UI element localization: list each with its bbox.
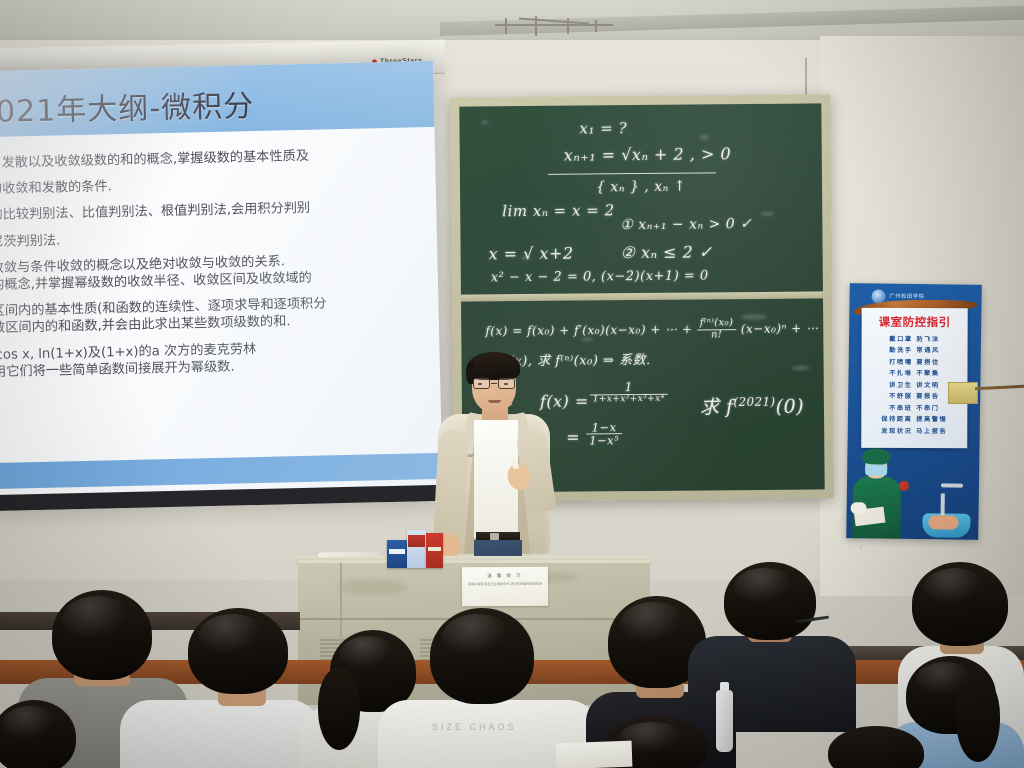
board-line-cond2: ② xₙ ≤ 2 ✓	[621, 242, 713, 262]
board-example-equals: =	[566, 428, 580, 447]
slide-line: 数、发散以及收敛级数的和的概念,掌握级数的基本性质及	[0, 147, 443, 171]
slide-bottom-band	[0, 453, 442, 489]
guideline-item: 勤洗手 常通风	[862, 345, 968, 357]
school-name: 广州松田学院	[890, 292, 925, 300]
board-line-cond1: ① xₙ₊₁ − xₙ > 0 ✓	[620, 216, 752, 233]
board-example-fraction-2: 1−x 1−x⁵	[586, 421, 622, 447]
board-example-fraction-1: 1 1+x+x²+x³+x⁴	[590, 381, 668, 406]
handwashing-illustration-icon	[918, 483, 975, 538]
guideline-item: 戴口罩 防飞沫	[862, 334, 968, 346]
wall-bracket-icon	[948, 382, 978, 404]
teacher-left-arm	[433, 429, 469, 540]
slide-line: 数的收敛和发散的条件.	[0, 173, 443, 197]
slide-line: 布尼茨判别法.	[0, 225, 443, 249]
belt-buckle-icon	[490, 533, 499, 540]
chalk-box-red	[426, 533, 443, 568]
slide-line: 性的比较判别法、比值判别法、根值判别法,会用积分判别	[0, 199, 443, 223]
chalk-box-white	[407, 530, 426, 568]
hoodie-print-text: SIZE CHAOS	[432, 722, 517, 732]
blackboard-middle-rail	[461, 291, 823, 301]
board-line-fixedpoint: x = √ x+2	[489, 244, 574, 264]
projection-screen: 2021年大纲-微积分 数、发散以及收敛级数的和的概念,掌握级数的基本性质及 数…	[0, 61, 443, 511]
chalk-box-blue	[387, 540, 407, 568]
board-line-limit: lim xₙ = x = 2	[502, 201, 614, 220]
board-line-recurrence: xₙ₊₁ = √xₙ + 2 , > 0	[564, 144, 732, 164]
wall-marking: •	[860, 545, 862, 551]
board-example-question: 求 f(2021)(0)	[700, 392, 804, 420]
board-line-quadratic: x² − x − 2 = 0, (x−2)(x+1) = 0	[491, 268, 709, 285]
water-bottle-icon	[716, 690, 733, 752]
notebook-page	[556, 741, 633, 768]
ceiling-light-bracket-icon	[495, 16, 613, 36]
covid-guidelines-poster: 广州松田学院 课室防控指引 戴口罩 防飞沫 勤洗手 常通风 打喷嚏 要捂住 不扎…	[846, 283, 982, 540]
desk-notice-sign: 温 馨 提 示 请保持课室清洁卫生谢谢合作 请勿在课室内吸烟饮食	[462, 567, 548, 607]
poster-badge-icon	[899, 481, 909, 491]
board-fraction-bar	[548, 172, 716, 175]
notice-body: 请保持课室清洁卫生谢谢合作 请勿在课室内吸烟饮食	[462, 582, 548, 588]
board-taylor-expansion: f(x) = f(x₀) + f′(x₀)(x−x₀) + ⋯ + f⁽ⁿ⁾(x…	[485, 317, 819, 342]
board-line-x1: x₁ = ?	[579, 119, 627, 137]
notice-title: 温 馨 提 示	[462, 573, 548, 580]
teacher-mouth	[488, 400, 501, 403]
guideline-item: 不扎堆 不聚集	[861, 368, 967, 380]
poster-card: 课室防控指引 戴口罩 防飞沫 勤洗手 常通风 打喷嚏 要捂住 不扎堆 不聚集 讲…	[861, 308, 967, 448]
guideline-item: 打喷嚏 要捂住	[862, 357, 968, 369]
slide-title: 2021年大纲-微积分	[0, 81, 255, 131]
classroom-photo: ThreeStars 2021年大纲-微积分 数、发散以及收敛级数的和的概念,掌…	[0, 0, 1024, 768]
nurse-illustration-icon	[848, 446, 907, 539]
board-line-sequence: { xₙ } , xₙ ↑	[596, 179, 686, 196]
guideline-item: 不串班 不串门	[861, 403, 967, 415]
teacher-hair	[468, 352, 520, 380]
eyeglasses-icon	[472, 378, 516, 389]
guideline-item: 保持距离 提高警惕	[861, 414, 967, 426]
taylor-coefficient-fraction: f⁽ⁿ⁾(x₀) n!	[697, 318, 737, 341]
guideline-item: 发现状况 马上报告	[861, 426, 967, 438]
slide-body: 数、发散以及收敛级数的和的概念,掌握级数的基本性质及 数的收敛和发散的条件. 性…	[0, 147, 443, 393]
poster-title: 课室防控指引	[862, 314, 968, 330]
